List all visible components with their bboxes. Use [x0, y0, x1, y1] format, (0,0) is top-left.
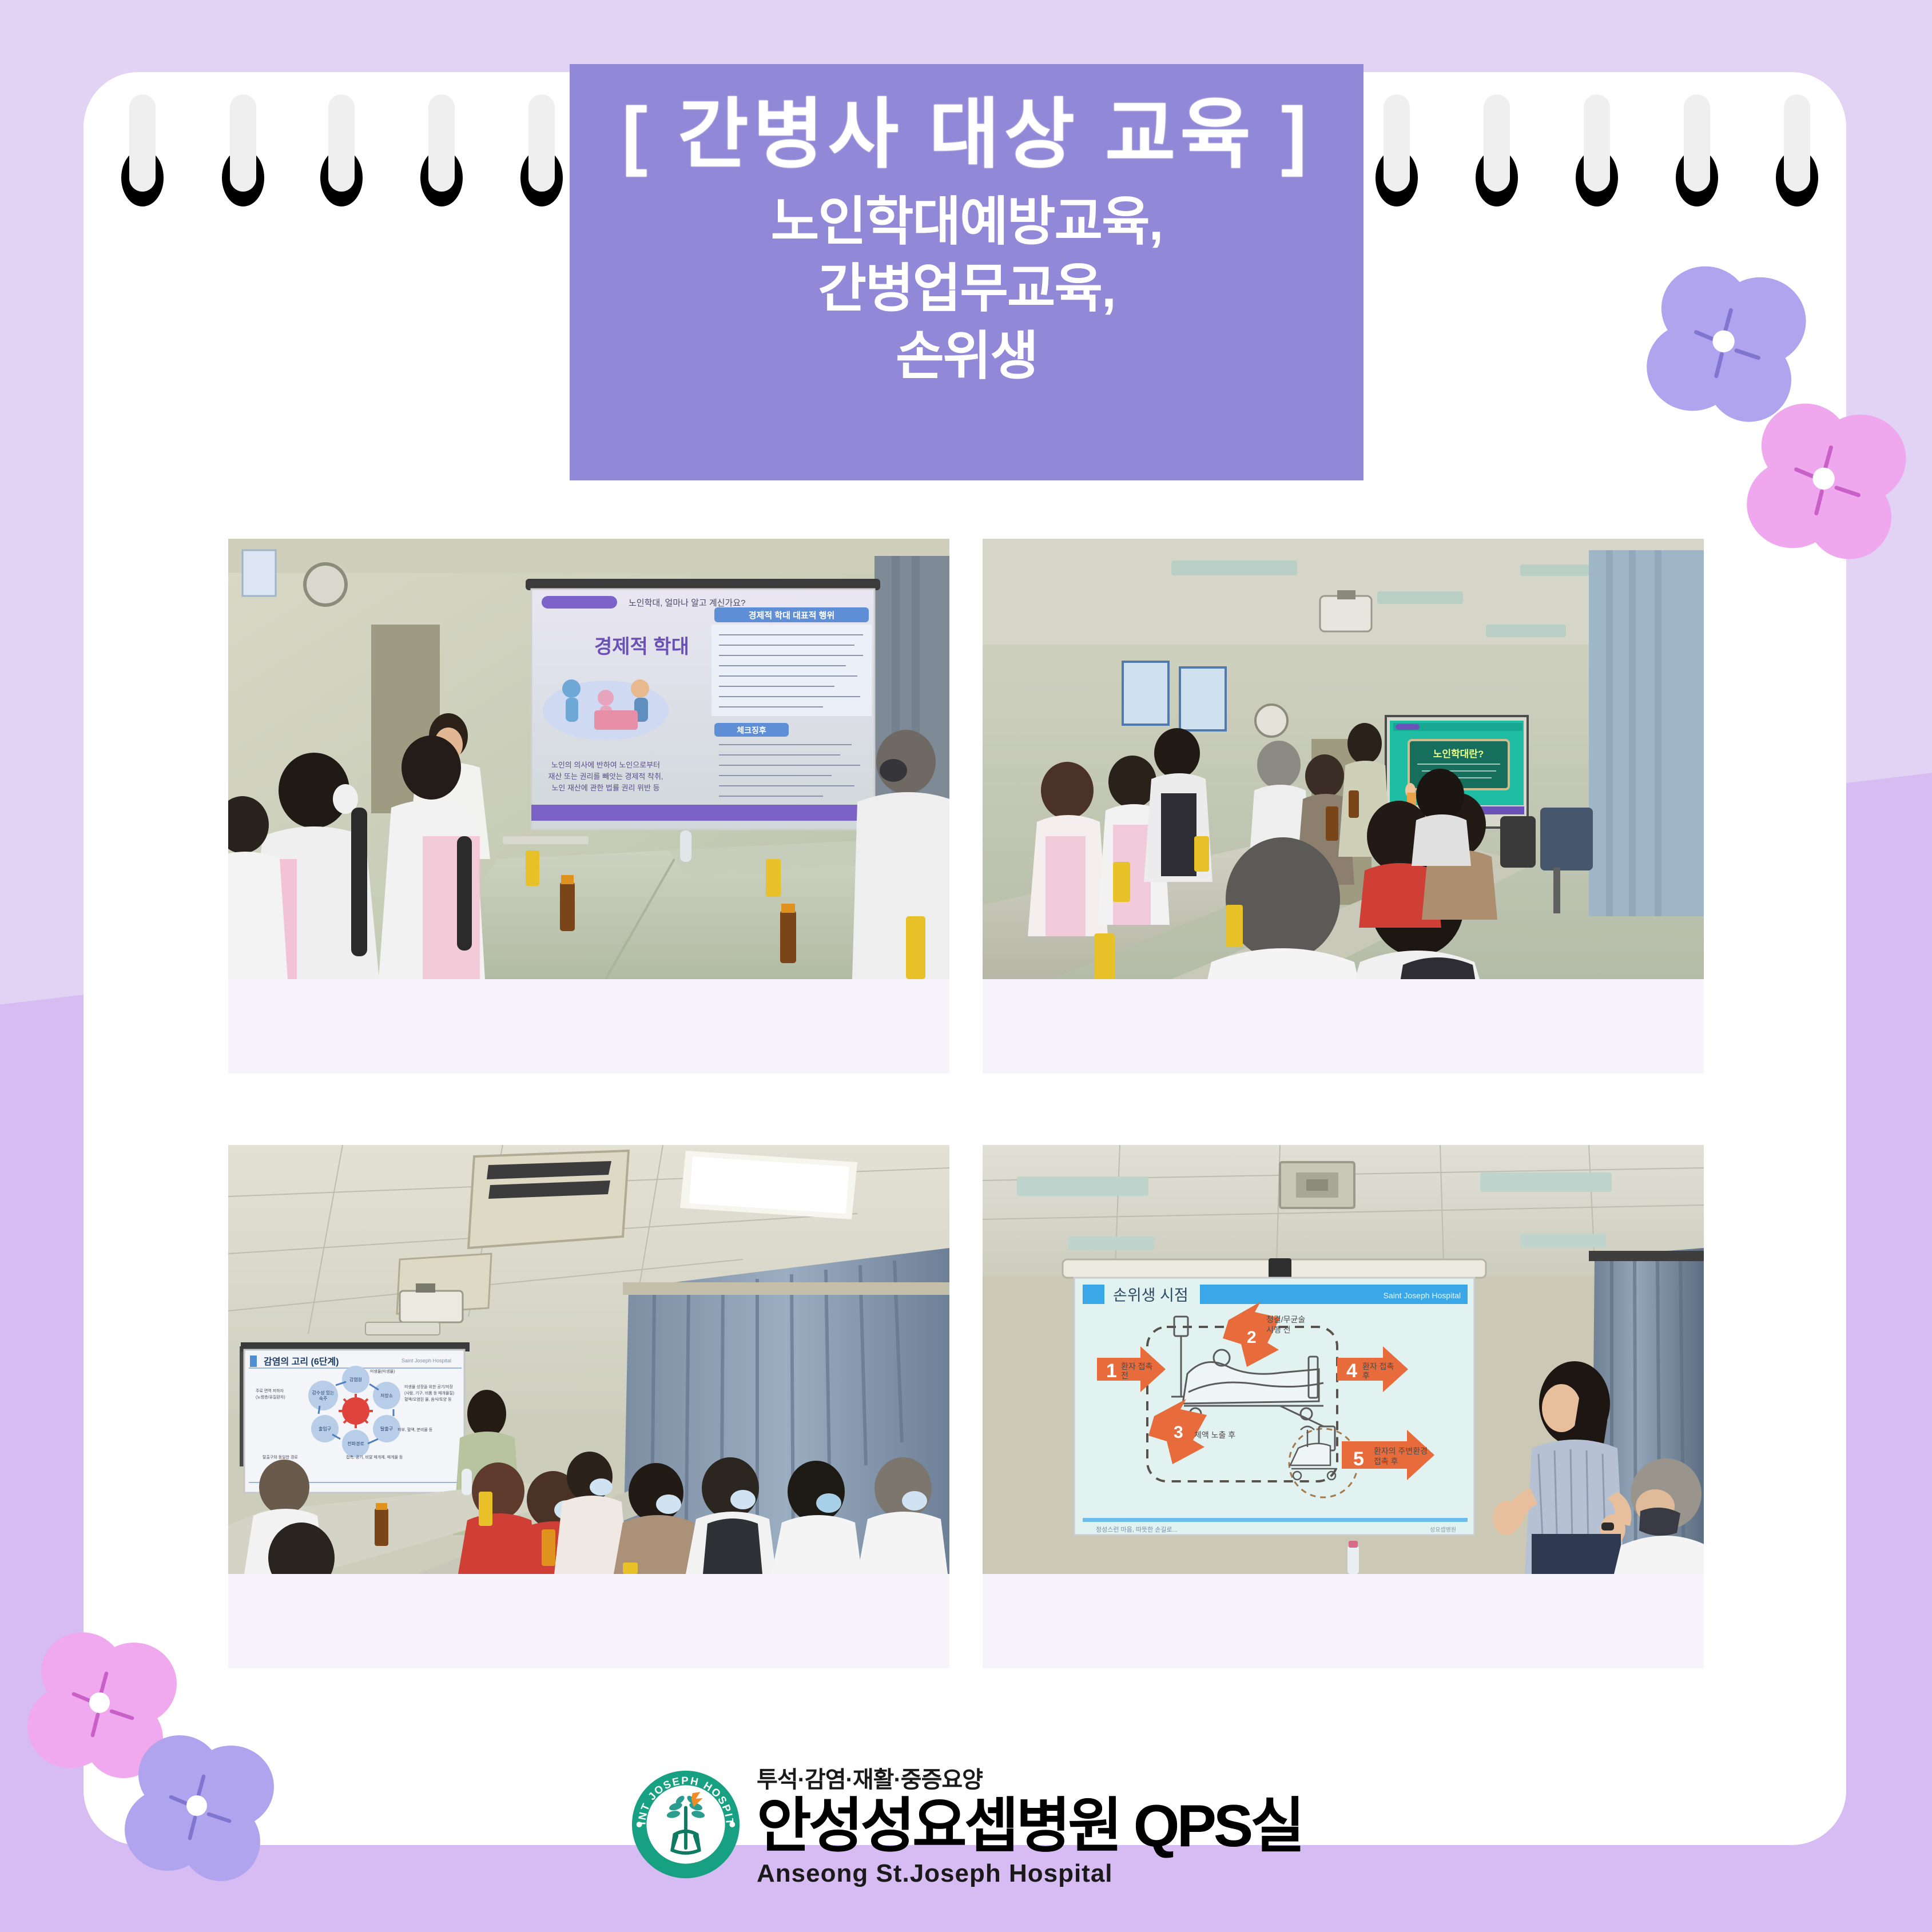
footer-branding: SAINT JOSEPH HOSPITAL SINCE 2004: [0, 1759, 1932, 1890]
svg-text:탈출구: 탈출구: [380, 1426, 393, 1432]
svg-text:Saint Joseph Hospital: Saint Joseph Hospital: [1384, 1291, 1461, 1300]
photo-caption-strip: [228, 979, 949, 1074]
photo-grid: 노인학대, 얼마나 알고 계신가요? 경제적 학대 노인의 의사에 반하여 노인…: [228, 539, 1704, 1625]
ring-bar-front: [1684, 129, 1710, 192]
svg-text:경제적 학대: 경제적 학대: [594, 636, 689, 658]
photo-elder-abuse-definition[interactable]: 노인학대란?: [983, 539, 1704, 1074]
flower-top-right-pink: [1736, 389, 1919, 572]
ring-bar-front: [1784, 129, 1810, 192]
photo-caption-strip: [228, 1574, 949, 1668]
poster-canvas: [ 간병사 대상 교육 ] 노인학대예방교육, 간병업무교육, 손위생: [0, 0, 1932, 1932]
binder-ring: [420, 94, 463, 226]
svg-text:감염의 고리 (6단계): 감염의 고리 (6단계): [264, 1356, 339, 1367]
svg-text:피부, 혈액, 분비물 등: 피부, 혈액, 분비물 등: [397, 1427, 433, 1432]
svg-text:청결/무균술: 청결/무균술: [1266, 1315, 1305, 1324]
svg-text:(노령층/유질환자): (노령층/유질환자): [256, 1394, 285, 1400]
svg-text:(사람, 기구, 비품 등 매개물질): (사람, 기구, 비품 등 매개물질): [404, 1390, 454, 1396]
svg-text:출입구: 출입구: [319, 1426, 331, 1432]
photo-frame: 노인학대, 얼마나 알고 계신가요? 경제적 학대 노인의 의사에 반하여 노인…: [228, 539, 949, 979]
svg-text:노인학대, 얼마나 알고 계신가요?: 노인학대, 얼마나 알고 계신가요?: [629, 598, 745, 608]
svg-text:미생물 성장을 위한 공기/저장: 미생물 성장을 위한 공기/저장: [404, 1384, 454, 1389]
svg-text:2: 2: [1247, 1328, 1257, 1347]
svg-text:감염원: 감염원: [349, 1377, 362, 1382]
banner-title-main: [ 간병사 대상 교육 ]: [622, 87, 1311, 183]
photo-infection-chain[interactable]: 감염의 고리 (6단계) Saint Joseph Hospital: [228, 1145, 949, 1668]
ring-bar-front: [1484, 129, 1510, 192]
svg-text:5: 5: [1353, 1448, 1364, 1470]
svg-text:4: 4: [1346, 1360, 1357, 1382]
svg-text:정성스런 마음, 따뜻한 손길로...: 정성스런 마음, 따뜻한 손길로...: [1096, 1526, 1178, 1533]
binder-ring: [320, 94, 363, 226]
svg-text:혈액/오염된 물, 음식/토양 등: 혈액/오염된 물, 음식/토양 등: [404, 1397, 452, 1402]
svg-text:노인의 의사에 반하여 노인으로부터: 노인의 의사에 반하여 노인으로부터: [551, 761, 660, 769]
footer-org-name: 안성성요셉병원 QPS실: [757, 1795, 1302, 1857]
svg-text:환자 접촉: 환자 접촉: [1121, 1362, 1153, 1371]
binder-ring: [121, 94, 164, 226]
footer-text-block: 투석·감염·재활·중증요양 안성성요셉병원 QPS실 Anseong St.Jo…: [757, 1761, 1302, 1888]
photo-caption-strip: [983, 979, 1704, 1074]
svg-text:숙주: 숙주: [319, 1396, 328, 1401]
banner-subtitle-line-3: 손위생: [771, 323, 1163, 391]
binder-ring: [520, 94, 563, 226]
svg-text:후: 후: [1362, 1371, 1370, 1380]
banner-title-sub: 노인학대예방교육, 간병업무교육, 손위생: [771, 189, 1163, 391]
ring-bar-front: [129, 129, 156, 192]
svg-text:경제적 학대 대표적 행위: 경제적 학대 대표적 행위: [749, 610, 835, 621]
svg-text:전파경로: 전파경로: [347, 1441, 364, 1446]
ring-bar-front: [528, 129, 555, 192]
svg-text:1: 1: [1106, 1360, 1117, 1382]
svg-text:환자 접촉: 환자 접촉: [1362, 1362, 1394, 1371]
svg-text:미생물(미생물): 미생물(미생물): [370, 1369, 395, 1374]
svg-text:성요셉병원: 성요셉병원: [1430, 1526, 1456, 1533]
banner-subtitle-line-2: 간병업무교육,: [771, 256, 1163, 323]
svg-text:3: 3: [1174, 1423, 1183, 1442]
ring-bar-front: [328, 129, 355, 192]
svg-text:접촉 후: 접촉 후: [1374, 1457, 1398, 1466]
photo-caption-strip: [983, 1574, 1704, 1668]
svg-text:손위생 시점: 손위생 시점: [1113, 1287, 1188, 1304]
banner-subtitle-line-1: 노인학대예방교육,: [771, 189, 1163, 256]
ring-bar-front: [428, 129, 455, 192]
photo-frame: 손위생 시점 Saint Joseph Hospital 정성스런 마음, 따뜻…: [983, 1145, 1704, 1574]
binder-ring: [1376, 94, 1418, 226]
svg-text:전: 전: [1121, 1371, 1128, 1380]
svg-text:시행 전: 시행 전: [1266, 1325, 1291, 1334]
ring-bar-front: [1584, 129, 1610, 192]
svg-text:노인 재산에 관한 법률 권리 위반 등: 노인 재산에 관한 법률 권리 위반 등: [551, 784, 659, 792]
binder-ring: [1676, 94, 1718, 226]
svg-text:저장소: 저장소: [380, 1393, 393, 1398]
svg-text:체액 노출 후: 체액 노출 후: [1194, 1430, 1235, 1440]
footer-tagline: 투석·감염·재활·중증요양: [757, 1761, 1302, 1794]
binder-ring: [1576, 94, 1618, 226]
hospital-seal-logo: SAINT JOSEPH HOSPITAL SINCE 2004: [630, 1768, 742, 1881]
title-banner: [ 간병사 대상 교육 ] 노인학대예방교육, 간병업무교육, 손위생: [570, 64, 1363, 480]
svg-text:Saint Joseph Hospital: Saint Joseph Hospital: [401, 1358, 451, 1363]
svg-text:탈출구와 동일한 경로: 탈출구와 동일한 경로: [263, 1454, 298, 1460]
photo-elder-abuse-lecture[interactable]: 노인학대, 얼마나 알고 계신가요? 경제적 학대 노인의 의사에 반하여 노인…: [228, 539, 949, 1074]
binder-ring: [1476, 94, 1518, 226]
svg-text:체크징후: 체크징후: [737, 726, 766, 735]
photo-hand-hygiene-moments[interactable]: 손위생 시점 Saint Joseph Hospital 정성스런 마음, 따뜻…: [983, 1145, 1704, 1668]
binder-ring: [222, 94, 264, 226]
photo-frame: 노인학대란?: [983, 539, 1704, 979]
ring-bar-front: [1384, 129, 1410, 192]
ring-bar-front: [230, 129, 256, 192]
svg-text:노인학대란?: 노인학대란?: [1433, 749, 1484, 760]
svg-text:주로 면역 저하자: 주로 면역 저하자: [256, 1388, 284, 1393]
svg-text:환자의 주변환경: 환자의 주변환경: [1374, 1446, 1428, 1456]
svg-text:감수성 있는: 감수성 있는: [312, 1390, 334, 1396]
footer-org-name-en: Anseong St.Joseph Hospital: [757, 1859, 1302, 1888]
svg-text:접촉, 공기, 비말 매개체, 매개물 등: 접촉, 공기, 비말 매개체, 매개물 등: [346, 1454, 403, 1460]
svg-text:재산 또는 권리를 빼앗는 경제적 착취,: 재산 또는 권리를 빼앗는 경제적 착취,: [548, 772, 663, 781]
photo-frame: 감염의 고리 (6단계) Saint Joseph Hospital: [228, 1145, 949, 1574]
binder-ring: [1776, 94, 1818, 226]
